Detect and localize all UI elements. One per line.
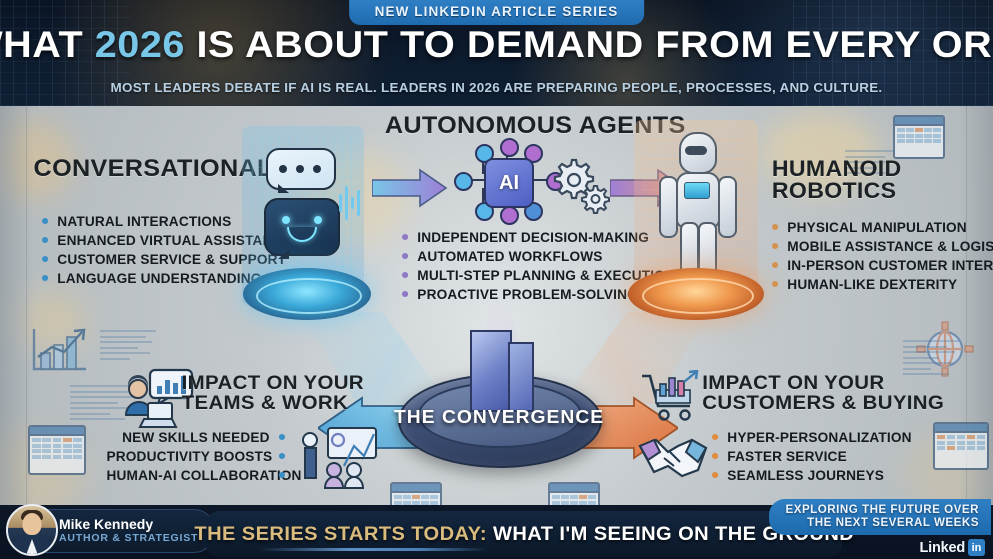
section-title-line-1: HUMANOID [772, 158, 902, 180]
convergence-tower-side [508, 342, 534, 412]
panel-divider-left [26, 105, 27, 505]
section-title-line-2: TEAMS & WORK [182, 394, 364, 414]
waveform-icon [338, 180, 362, 231]
author-name: Mike Kennedy [59, 517, 198, 532]
list-impact-customers: HYPER-PERSONALIZATION FASTER SERVICE SEA… [712, 428, 908, 485]
bot-smile [287, 227, 317, 242]
bot-eye [282, 216, 290, 224]
handshake-icon [638, 432, 708, 480]
calendar-header [895, 117, 943, 126]
series-start-label: THE SERIES STARTS TODAY: [194, 523, 487, 545]
section-title-impact-customers: IMPACT ON YOUR CUSTOMERS & BUYING [702, 374, 944, 414]
chatbot-face-icon [264, 198, 340, 256]
calendar-icon-left [28, 425, 86, 475]
conversational-ai-ring [256, 278, 362, 314]
ai-agent-network-illustration: AI [452, 142, 562, 220]
network-node [500, 206, 519, 225]
calendar-grid [895, 126, 943, 145]
chat-bubble-dots [266, 148, 336, 190]
footer-bar: Mike Kennedy AUTHOR & STRATEGIST THE SER… [0, 505, 993, 559]
list-item: PRODUCTIVITY BOOSTS [107, 447, 286, 466]
typing-dot [296, 165, 304, 173]
convergence-tower [470, 330, 512, 412]
section-title-impact-teams: IMPACT ON YOUR TEAMS & WORK [182, 374, 364, 414]
section-title-line-2: CUSTOMERS & BUYING [702, 394, 944, 414]
section-title-line-1: IMPACT ON YOUR [702, 374, 944, 394]
page-title: WHAT 2026 IS ABOUT TO DEMAND FROM EVERY … [0, 24, 993, 66]
linkedin-logo[interactable]: Linked in [919, 539, 985, 556]
linkedin-wordmark: Linked [919, 540, 965, 556]
robot-arm-right [718, 176, 737, 238]
flow-arrow-left-to-center [372, 168, 448, 213]
gears-icon [548, 156, 614, 221]
typing-dot [279, 165, 287, 173]
robot-face-visor [685, 146, 707, 155]
explore-line-2: THE NEXT SEVERAL WEEKS [785, 516, 979, 530]
robot-arm-left [659, 176, 678, 238]
list-item: HYPER-PERSONALIZATION [712, 428, 912, 447]
ai-chip-icon: AI [484, 158, 534, 208]
list-item: NEW SKILLS NEEDED [107, 428, 286, 447]
humanoid-robot-ring [642, 278, 754, 314]
linkedin-in-icon: in [968, 539, 985, 556]
section-title-line-1: IMPACT ON YOUR [182, 374, 364, 394]
series-badge[interactable]: NEW LINKEDIN ARTICLE SERIES [349, 0, 645, 25]
calendar-header [392, 484, 440, 493]
section-title-line-2: ROBOTICS [772, 180, 902, 202]
explore-future-chip[interactable]: EXPLORING THE FUTURE OVER THE NEXT SEVER… [769, 499, 991, 535]
list-humanoid-robotics: PHYSICAL MANIPULATION MOBILE ASSISTANCE … [772, 218, 993, 294]
title-pre: WHAT [0, 24, 95, 65]
convergence-label: THE CONVERGENCE [394, 406, 602, 428]
calendar-grid [30, 436, 84, 461]
calendar-header [550, 484, 598, 493]
list-item: MOBILE ASSISTANCE & LOGISTICS [772, 237, 993, 256]
header-banner: NEW LINKEDIN ARTICLE SERIES WHAT 2026 IS… [0, 0, 993, 106]
list-item: HUMAN-AI COLLABORATION [107, 466, 286, 485]
calendar-icon-right [933, 422, 989, 470]
robot-chest-panel [684, 182, 710, 199]
network-node [500, 138, 519, 157]
calendar-grid [935, 433, 987, 452]
calendar-icon-top-right [893, 115, 945, 159]
document-lines-left [100, 330, 158, 370]
title-year: 2026 [95, 24, 185, 65]
author-role: AUTHOR & STRATEGIST [59, 532, 198, 545]
infographic-canvas: NEW LINKEDIN ARTICLE SERIES WHAT 2026 IS… [0, 0, 993, 559]
explore-line-1: EXPLORING THE FUTURE OVER [785, 503, 979, 517]
bot-eye [314, 216, 322, 224]
robot-torso [676, 172, 720, 228]
list-item: PHYSICAL MANIPULATION [772, 218, 993, 237]
bar-chart-icon [28, 325, 90, 375]
list-item: FASTER SERVICE [712, 447, 912, 466]
typing-dot [313, 165, 321, 173]
list-item: SEAMLESS JOURNEYS [712, 466, 912, 485]
list-item: HUMAN-LIKE DEXTERITY [772, 275, 993, 294]
series-underline [258, 548, 488, 551]
list-impact-teams: NEW SKILLS NEEDED PRODUCTIVITY BOOSTS HU… [110, 428, 285, 485]
list-item: IN-PERSON CUSTOMER INTERACTION [772, 256, 993, 275]
avatar[interactable] [6, 504, 58, 556]
team-presentation-icon [298, 426, 378, 490]
section-title-humanoid-robotics: HUMANOID ROBOTICS [772, 158, 902, 203]
network-node [454, 172, 473, 191]
avatar-face [23, 513, 42, 535]
calendar-header [30, 427, 84, 436]
shopping-cart-growth-icon [640, 370, 702, 422]
title-post: IS ABOUT TO DEMAND FROM EVERY ORGANIZATI… [185, 24, 993, 65]
page-subtitle: MOST LEADERS DEBATE IF AI IS REAL. LEADE… [0, 80, 993, 95]
calendar-header [935, 424, 987, 433]
